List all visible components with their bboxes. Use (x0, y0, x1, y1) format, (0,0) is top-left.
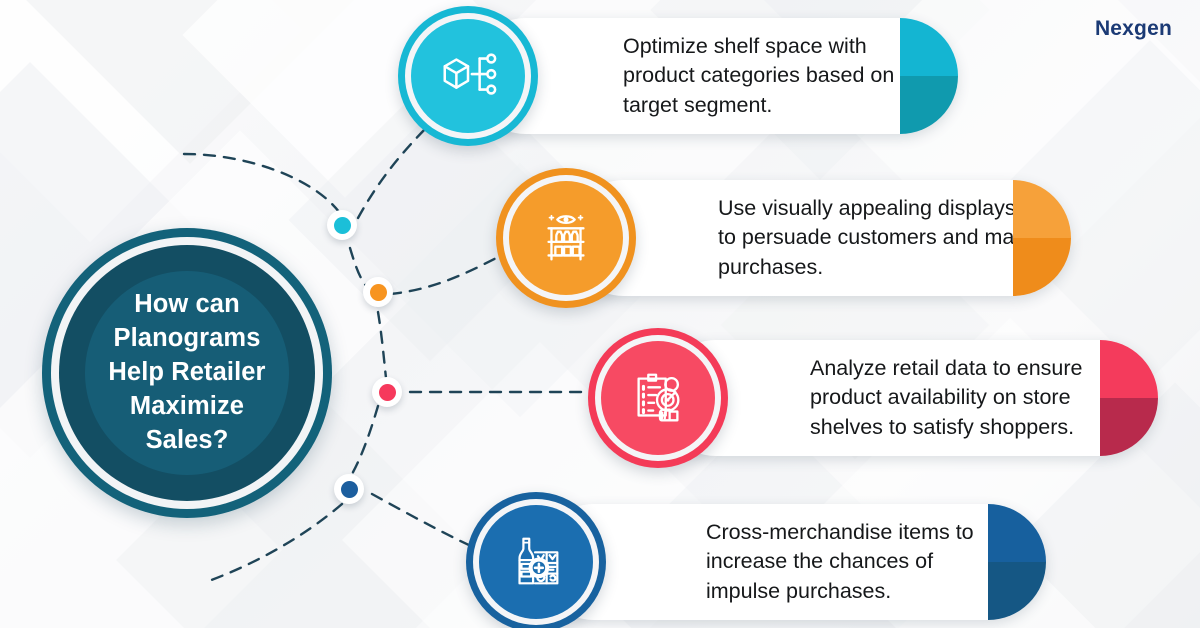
item-pill-cross-merchandise: Cross-merchandise items to increase the … (536, 504, 1046, 620)
item-text-shelf-space: Optimize shelf space with product catego… (623, 32, 923, 120)
package-node-tree-icon (437, 45, 499, 107)
item-icon-badge-shelf-space[interactable] (398, 6, 538, 146)
cap-bottom (1013, 238, 1071, 296)
cap-top (1100, 340, 1158, 398)
central-hub: How can Planograms Help Retailer Maximiz… (42, 228, 332, 518)
connector-node-4 (334, 474, 364, 504)
cap-top (900, 18, 958, 76)
item-row-cross-merchandise[interactable]: Cross-merchandise items to increase the … (466, 492, 1046, 628)
hub-title-line-3: Help Retailer (80, 356, 295, 390)
brand-logo: Nexgen (1095, 17, 1172, 41)
infographic-canvas: How can Planograms Help Retailer Maximiz… (0, 0, 1200, 628)
node-dot-4 (341, 481, 358, 498)
cap-top (1013, 180, 1071, 238)
cap-bottom (988, 562, 1046, 620)
hub-title-line-5: Sales? (80, 424, 295, 458)
item-icon-badge-visual-displays[interactable] (496, 168, 636, 308)
connector-node-1 (327, 210, 357, 240)
item-text-visual-displays: Use visually appealing displays to persu… (718, 194, 1038, 282)
item-cap-visual-displays (1013, 180, 1071, 296)
item-text-retail-data: Analyze retail data to ensure product av… (810, 354, 1135, 442)
item-row-shelf-space[interactable]: Optimize shelf space with product catego… (398, 6, 958, 146)
node-dot-1 (334, 217, 351, 234)
item-row-visual-displays[interactable]: Use visually appealing displays to persu… (496, 168, 1071, 308)
item-text-cross-merchandise: Cross-merchandise items to increase the … (706, 518, 1006, 606)
connector-node-2 (363, 277, 393, 307)
item-pill-shelf-space: Optimize shelf space with product catego… (468, 18, 958, 134)
hub-title-line-4: Maximize (80, 390, 295, 424)
cap-bottom (1100, 398, 1158, 456)
page-title: How can Planograms Help Retailer Maximiz… (80, 288, 295, 458)
item-cap-cross-merchandise (988, 504, 1046, 620)
shelf-display-eye-icon (535, 207, 597, 269)
hub-title-line-1: How can (80, 288, 295, 322)
node-dot-3 (379, 384, 396, 401)
node-dot-2 (370, 284, 387, 301)
item-cap-shelf-space (900, 18, 958, 134)
connector-node-3 (372, 377, 402, 407)
clipboard-target-analysis-icon (627, 367, 689, 429)
item-row-retail-data[interactable]: Analyze retail data to ensure product av… (588, 328, 1158, 468)
item-pill-retail-data: Analyze retail data to ensure product av… (658, 340, 1158, 456)
cap-bottom (900, 76, 958, 134)
hub-title-line-2: Planograms (80, 322, 295, 356)
cap-top (988, 504, 1046, 562)
item-pill-visual-displays: Use visually appealing displays to persu… (566, 180, 1071, 296)
item-cap-retail-data (1100, 340, 1158, 456)
icon-core (601, 341, 715, 455)
bottle-product-grid-icon (505, 531, 567, 593)
icon-core (509, 181, 623, 295)
icon-core (411, 19, 525, 133)
icon-core (479, 505, 593, 619)
item-icon-badge-retail-data[interactable] (588, 328, 728, 468)
item-icon-badge-cross-merchandise[interactable] (466, 492, 606, 628)
